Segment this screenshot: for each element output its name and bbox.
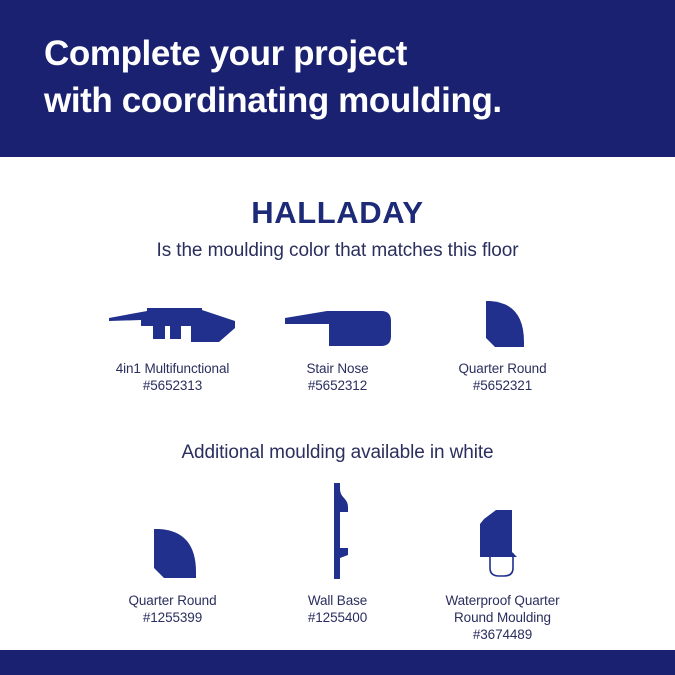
product-label: 4in1 Multifunctional (116, 360, 230, 377)
main-content: HALLADAY Is the moulding color that matc… (0, 157, 675, 650)
product-card-stair-nose[interactable]: Stair Nose #5652312 (255, 288, 420, 394)
promo-page: Complete your project with coordinating … (0, 0, 675, 675)
product-art (477, 288, 529, 350)
product-sku: #5652312 (308, 377, 367, 394)
product-sku: #5652321 (473, 377, 532, 394)
product-sku: #1255399 (143, 609, 202, 626)
stair-nose-profile-icon (283, 304, 393, 350)
header-title-line-1: Complete your project (44, 30, 675, 77)
product-label: Waterproof Quarter Round Moulding (446, 592, 560, 626)
header-title-line-2: with coordinating moulding. (44, 77, 675, 124)
product-card-quarter-round-matching[interactable]: Quarter Round #5652321 (420, 288, 585, 394)
brand-tagline: Is the moulding color that matches this … (0, 240, 675, 262)
product-label-line-1: Waterproof Quarter (446, 592, 560, 609)
product-label: Stair Nose (306, 360, 368, 377)
wall-base-profile-icon (321, 482, 355, 582)
product-sku: #5652313 (143, 377, 202, 394)
product-sku: #3674489 (473, 626, 532, 643)
product-card-quarter-round-white[interactable]: Quarter Round #1255399 (90, 482, 255, 626)
waterproof-quarter-round-profile-icon (468, 506, 538, 582)
product-sku: #1255400 (308, 609, 367, 626)
header-banner: Complete your project with coordinating … (0, 0, 675, 157)
product-art (321, 482, 355, 582)
product-art (145, 482, 201, 582)
additional-moulding-heading: Additional moulding available in white (0, 442, 675, 464)
quarter-round-profile-icon (477, 298, 529, 350)
brand-name: HALLADAY (0, 195, 675, 231)
footer-bar (0, 650, 675, 675)
product-art (107, 288, 239, 350)
product-label: Quarter Round (129, 592, 217, 609)
product-card-4in1-multifunctional[interactable]: 4in1 Multifunctional #5652313 (90, 288, 255, 394)
product-label-line-2: Round Moulding (446, 609, 560, 626)
product-label: Quarter Round (459, 360, 547, 377)
product-art (468, 482, 538, 582)
product-art (283, 288, 393, 350)
product-card-wall-base[interactable]: Wall Base #1255400 (255, 482, 420, 626)
product-card-waterproof-quarter-round[interactable]: Waterproof Quarter Round Moulding #36744… (420, 482, 585, 643)
4in1-multifunctional-profile-icon (107, 298, 239, 350)
matching-moulding-row: 4in1 Multifunctional #5652313 Stair Nose… (0, 288, 675, 394)
product-label: Wall Base (308, 592, 367, 609)
quarter-round-profile-icon (145, 526, 201, 582)
additional-moulding-row: Quarter Round #1255399 Wall Base #125540… (0, 482, 675, 643)
